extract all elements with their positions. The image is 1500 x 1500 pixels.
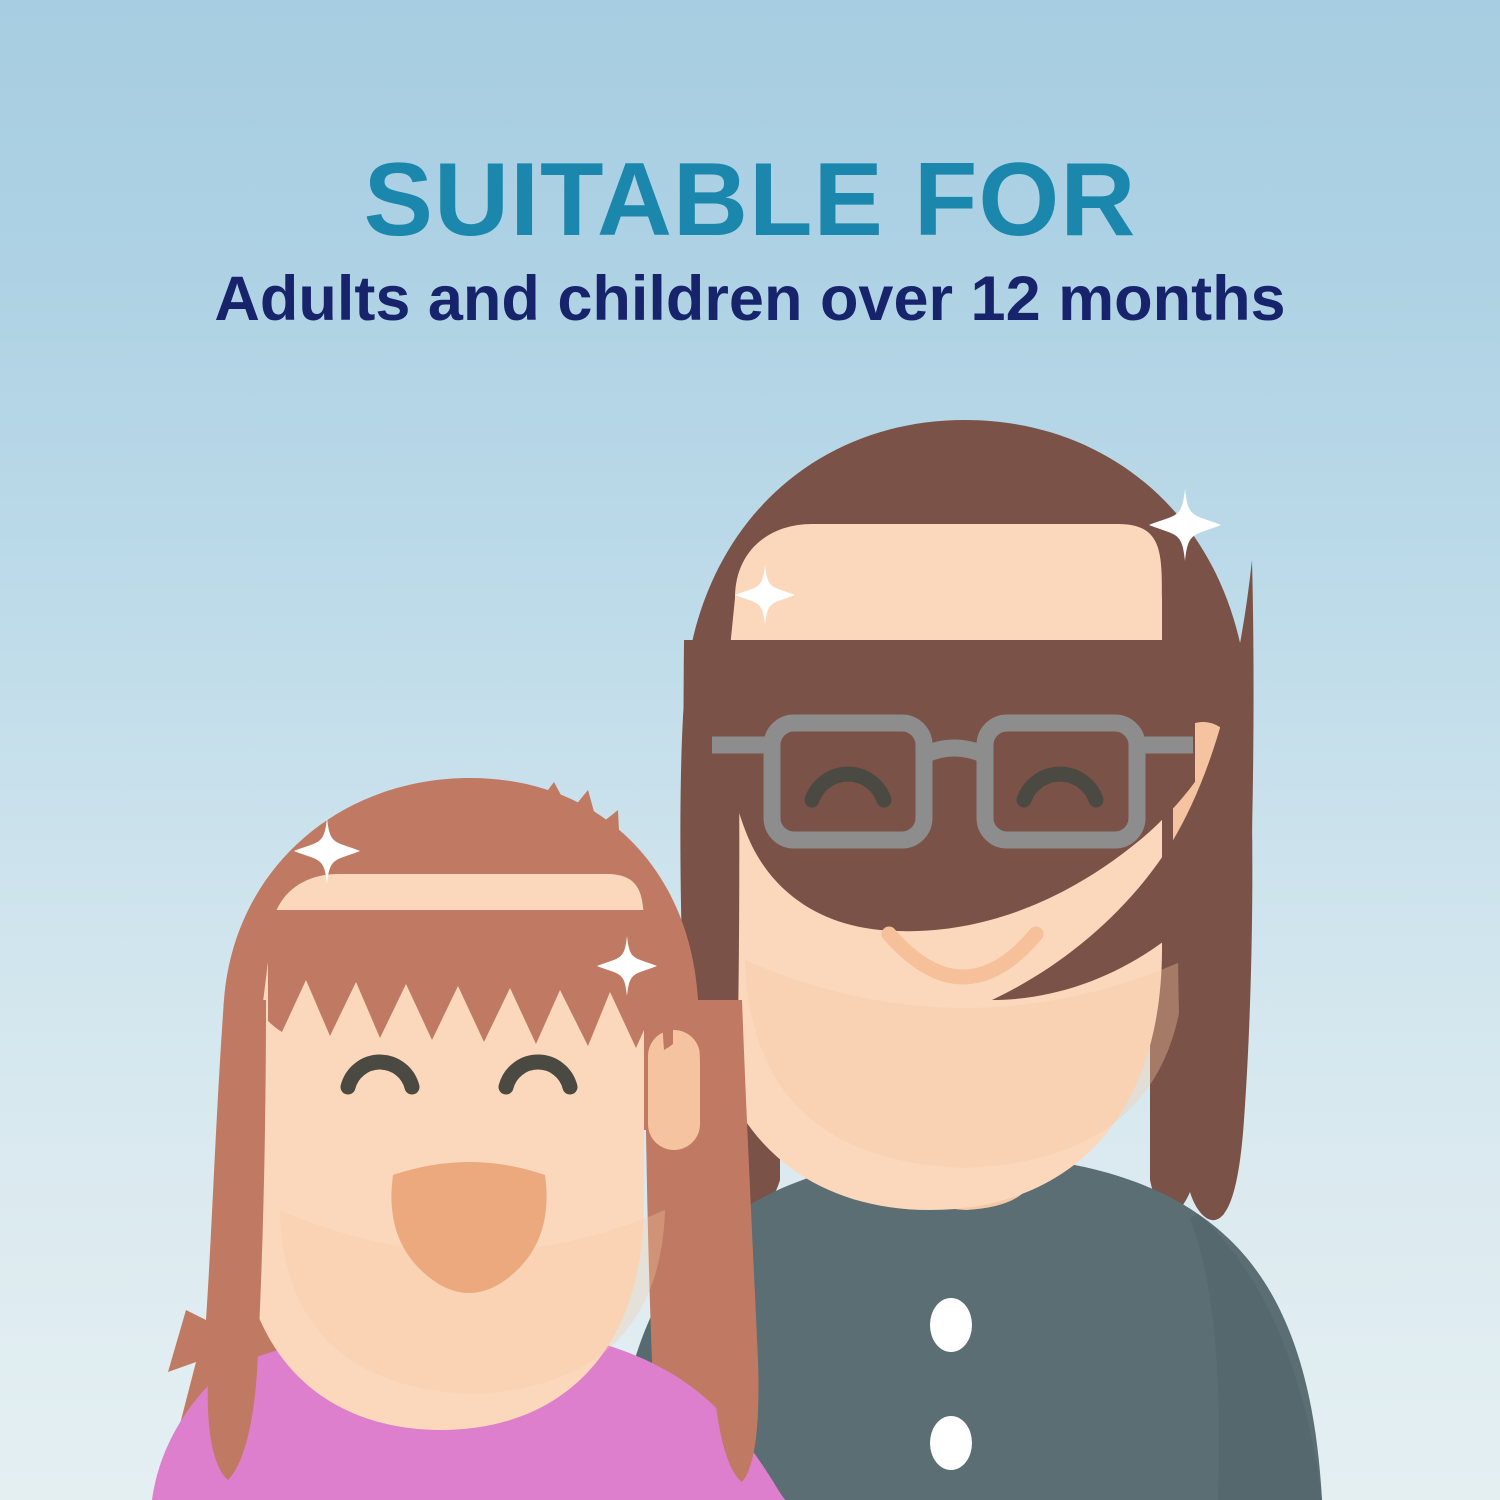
mother-button-top bbox=[930, 1298, 972, 1352]
mother-button-bottom bbox=[930, 1416, 972, 1470]
promo-graphic: SUITABLE FOR Adults and children over 12… bbox=[0, 0, 1500, 1500]
glasses-bridge bbox=[924, 748, 985, 755]
headline-block: SUITABLE FOR Adults and children over 12… bbox=[0, 148, 1500, 332]
child-ear-right bbox=[648, 1030, 700, 1150]
page-subtitle: Adults and children over 12 months bbox=[0, 266, 1500, 332]
page-title: SUITABLE FOR bbox=[0, 148, 1500, 252]
